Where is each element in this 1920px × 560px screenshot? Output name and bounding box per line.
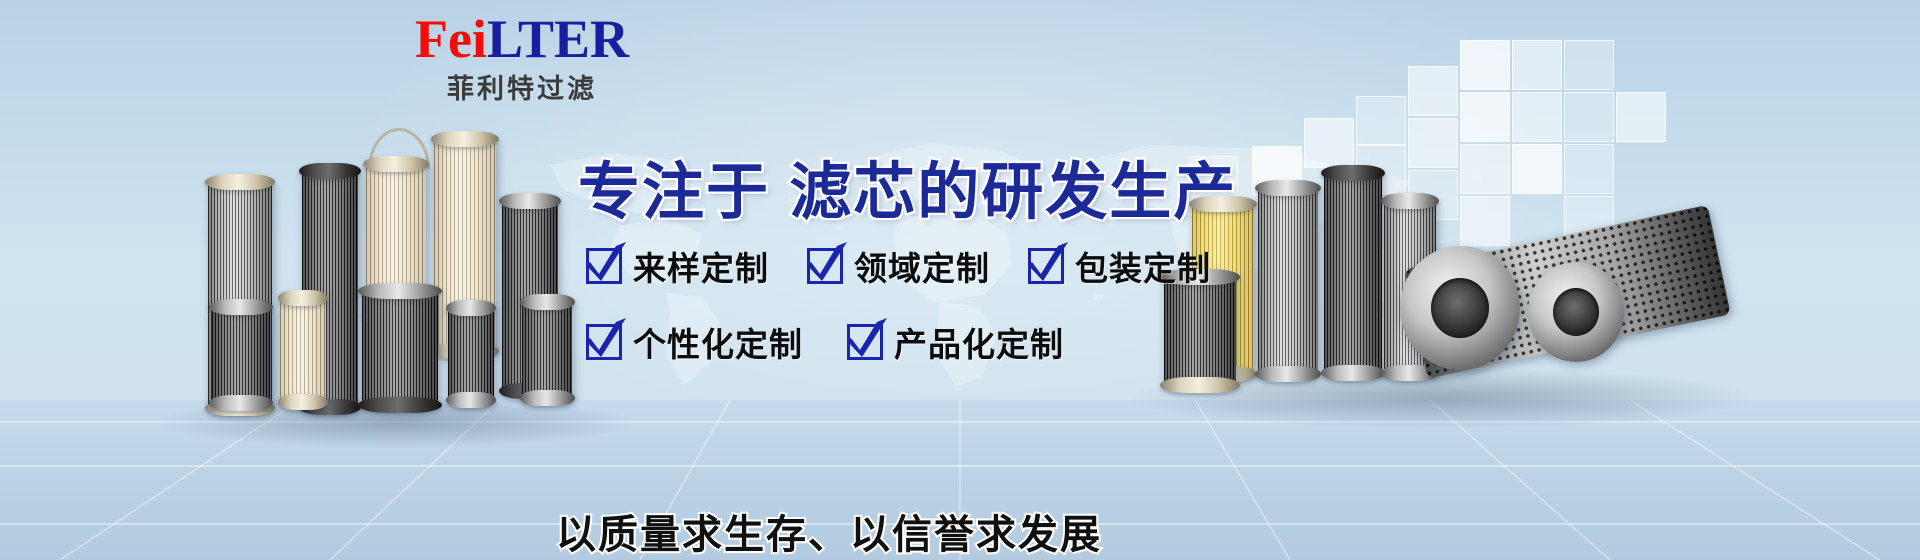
filter-cartridge [448, 306, 494, 402]
checkbox-checked-icon [586, 324, 622, 360]
feature-item-productized-custom[interactable]: 产品化定制 [847, 318, 1064, 366]
feature-row: 个性化定制 产品化定制 [586, 318, 1211, 366]
feature-list: 来样定制 领域定制 包装定制 [586, 242, 1211, 366]
headline: 专注于 滤芯的研发生产 [578, 141, 1237, 231]
filter-cartridge [212, 306, 270, 404]
feature-item-personalized-custom[interactable]: 个性化定制 [586, 318, 803, 366]
checkbox-checked-icon [807, 248, 843, 284]
slogan: 以质量求生存、以信誉求发展 [556, 502, 1102, 560]
feature-label: 来样定制 [633, 242, 769, 290]
checkbox-checked-icon [586, 248, 622, 284]
promo-banner: FeiLTER 菲利特过滤 专注于 滤芯的研发生产 来样定制 [0, 0, 1920, 560]
brand-wordmark-fei: Fei [415, 9, 487, 69]
feature-label: 产品化定制 [894, 318, 1064, 366]
feature-item-packaging-custom[interactable]: 包装定制 [1028, 242, 1211, 290]
brand-wordmark: FeiLTER [392, 12, 652, 66]
brand-logo[interactable]: FeiLTER 菲利特过滤 [392, 12, 652, 103]
brand-subtitle-cn: 菲利特过滤 [392, 76, 652, 103]
filter-cartridge [1324, 172, 1382, 374]
filter-cartridge [362, 292, 438, 404]
checkbox-checked-icon [847, 324, 883, 360]
filter-cartridge [280, 296, 326, 404]
filter-end-ring [1528, 262, 1624, 362]
filter-cartridge [522, 300, 572, 400]
feature-item-sample-custom[interactable]: 来样定制 [586, 242, 769, 290]
filter-cartridge [1258, 188, 1318, 374]
feature-label: 个性化定制 [633, 318, 803, 366]
filter-end-ring [1400, 246, 1520, 370]
feature-row: 来样定制 领域定制 包装定制 [586, 242, 1211, 290]
feature-label: 包装定制 [1075, 242, 1211, 290]
checkbox-checked-icon [1028, 248, 1064, 284]
brand-wordmark-lter: LTER [487, 9, 629, 69]
filter-cartridge-group-left [150, 110, 630, 440]
feature-label: 领域定制 [854, 242, 990, 290]
feature-item-field-custom[interactable]: 领域定制 [807, 242, 990, 290]
